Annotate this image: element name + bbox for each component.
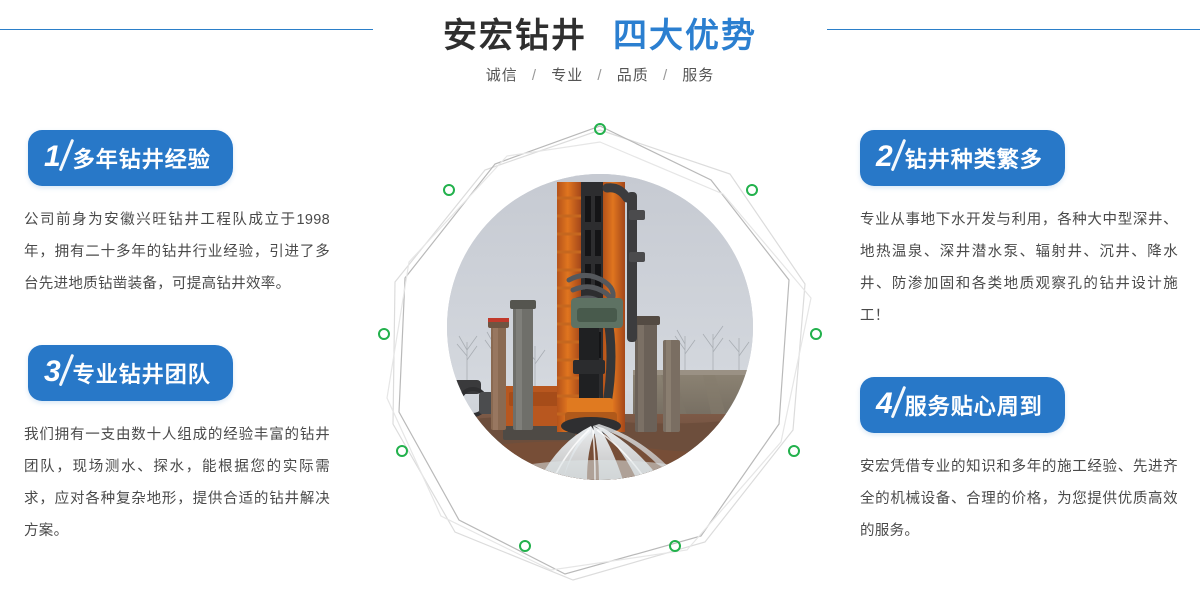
feature-title: 钻井种类繁多 — [905, 142, 1043, 174]
feature-number-badge: 2 — [876, 142, 897, 172]
page-subtitle: 诚信 / 专业 / 品质 / 服务 — [0, 64, 1200, 85]
subtitle-separator: / — [663, 67, 668, 84]
vertex-marker-icon — [379, 329, 389, 339]
feature-description: 我们拥有一支由数十人组成的经验丰富的钻井团队，现场测水、探水，能根据您的实际需求… — [24, 419, 330, 547]
title-highlight: 四大优势 — [613, 8, 757, 57]
feature-card-4: 4 服务贴心周到 安宏凭借专业的知识和多年的施工经验、先进齐全的机械设备、合理的… — [860, 377, 1200, 547]
feature-title: 专业钻井团队 — [73, 357, 211, 389]
vertex-marker-icon — [520, 541, 530, 551]
title-company: 安宏钻井 — [443, 8, 587, 57]
feature-banner-3[interactable]: 3 专业钻井团队 — [28, 345, 233, 401]
feature-description: 安宏凭借专业的知识和多年的施工经验、先进齐全的机械设备、合理的价格，为您提供优质… — [860, 451, 1178, 547]
subtitle-item-2: 品质 — [617, 67, 649, 84]
subtitle-item-3: 服务 — [682, 67, 714, 84]
vertex-marker-icon — [397, 446, 407, 456]
page-title: 安宏钻井四大优势 — [0, 8, 1200, 57]
drilling-rig-photo — [447, 174, 753, 480]
center-graphic — [375, 112, 825, 600]
features-column-right: 2 钻井种类繁多 专业从事地下水开发与利用，各种大中型深井、地热温泉、深井潜水泵… — [860, 130, 1200, 547]
vertex-marker-icon — [789, 446, 799, 456]
feature-banner-4[interactable]: 4 服务贴心周到 — [860, 377, 1065, 433]
feature-description: 公司前身为安徽兴旺钻井工程队成立于1998年，拥有二十多年的钻井行业经验，引进了… — [24, 204, 330, 300]
vertex-marker-icon — [811, 329, 821, 339]
drilling-rig-illustration — [447, 174, 753, 480]
vertex-marker-icon — [670, 541, 680, 551]
feature-title: 服务贴心周到 — [905, 389, 1043, 421]
feature-card-1: 1 多年钻井经验 公司前身为安徽兴旺钻井工程队成立于1998年，拥有二十多年的钻… — [0, 130, 340, 300]
feature-number-badge: 3 — [44, 357, 65, 387]
subtitle-separator: / — [597, 67, 602, 84]
page-header: 安宏钻井四大优势 诚信 / 专业 / 品质 / 服务 — [0, 0, 1200, 110]
feature-title: 多年钻井经验 — [73, 142, 211, 174]
feature-number-badge: 4 — [876, 389, 897, 419]
feature-number-badge: 1 — [44, 142, 65, 172]
subtitle-item-0: 诚信 — [486, 67, 518, 84]
features-column-left: 1 多年钻井经验 公司前身为安徽兴旺钻井工程队成立于1998年，拥有二十多年的钻… — [0, 130, 340, 547]
feature-banner-1[interactable]: 1 多年钻井经验 — [28, 130, 233, 186]
subtitle-item-1: 专业 — [551, 67, 583, 84]
feature-banner-2[interactable]: 2 钻井种类繁多 — [860, 130, 1065, 186]
feature-card-3: 3 专业钻井团队 我们拥有一支由数十人组成的经验丰富的钻井团队，现场测水、探水，… — [0, 345, 340, 547]
feature-description: 专业从事地下水开发与利用，各种大中型深井、地热温泉、深井潜水泵、辐射井、沉井、降… — [860, 204, 1178, 332]
subtitle-separator: / — [532, 67, 537, 84]
feature-card-2: 2 钻井种类繁多 专业从事地下水开发与利用，各种大中型深井、地热温泉、深井潜水泵… — [860, 130, 1200, 332]
